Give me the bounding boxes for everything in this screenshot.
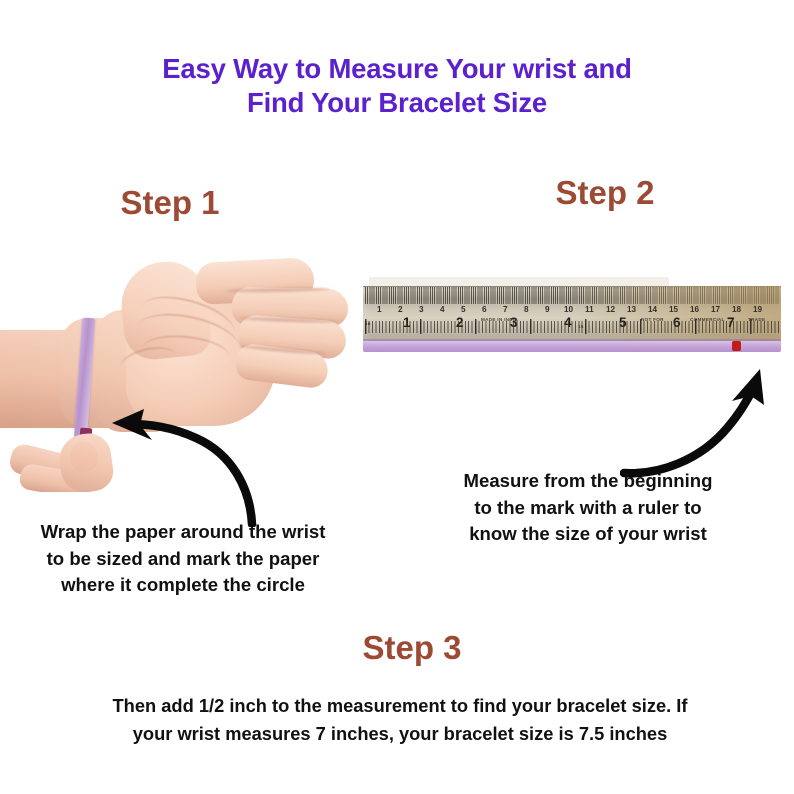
cm-tick-5: 5 (461, 305, 466, 315)
cm-tick-16: 16 (690, 305, 699, 315)
step-2-caption-line-1: Measure from the beginning (418, 468, 758, 495)
cm-tick-15: 15 (669, 305, 678, 315)
cm-tick-12: 12 (606, 305, 615, 315)
cm-tick-18: 18 (732, 305, 741, 315)
step-2-caption-line-2: to the mark with a ruler to (418, 495, 758, 522)
step-2-caption: Measure from the beginning to the mark w… (418, 468, 758, 548)
step-1-caption-line-3: where it complete the circle (8, 572, 358, 599)
step-1-caption-line-1: Wrap the paper around the wrist (8, 519, 358, 546)
page-title: Easy Way to Measure Your wrist and Find … (0, 52, 794, 120)
step-3-caption-line-1: Then add 1/2 inch to the measurement to … (60, 692, 740, 720)
ruler-inch-major-ticks (365, 319, 779, 334)
step-2-caption-line-3: know the size of your wrist (418, 521, 758, 548)
paper-strip-under-ruler (363, 341, 781, 352)
step-3-caption: Then add 1/2 inch to the measurement to … (60, 692, 740, 748)
page-title-line-2: Find Your Bracelet Size (0, 86, 794, 120)
cm-tick-3: 3 (419, 305, 424, 315)
cm-tick-8: 8 (524, 305, 529, 315)
cm-tick-10: 10 (564, 305, 573, 315)
ruler-millimeter-ticks (365, 287, 779, 304)
cm-tick-2: 2 (398, 305, 403, 315)
cm-tick-14: 14 (648, 305, 657, 315)
cm-tick-17: 17 (711, 305, 720, 315)
cm-tick-4: 4 (440, 305, 445, 315)
step-3-caption-line-2: your wrist measures 7 inches, your brace… (60, 720, 740, 748)
cm-tick-13: 13 (627, 305, 636, 315)
step-1-caption-line-2: to be sized and mark the paper (8, 546, 358, 573)
cm-tick-19: 19 (753, 305, 762, 315)
infographic-canvas: Easy Way to Measure Your wrist and Find … (0, 0, 794, 794)
red-measurement-mark (732, 341, 741, 351)
cm-tick-9: 9 (545, 305, 550, 315)
ruler-image: 1 2 3 4 5 6 7 8 9 10 11 12 13 14 15 16 1… (363, 277, 781, 359)
cm-tick-7: 7 (503, 305, 508, 315)
step-2-heading: Step 2 (505, 173, 705, 213)
cm-tick-11: 11 (585, 305, 594, 315)
step-3-heading: Step 3 (312, 628, 512, 668)
page-title-line-1: Easy Way to Measure Your wrist and (0, 52, 794, 86)
step-1-heading: Step 1 (70, 183, 270, 223)
cm-tick-1: 1 (377, 305, 382, 315)
cm-tick-6: 6 (482, 305, 487, 315)
step-1-caption: Wrap the paper around the wrist to be si… (8, 519, 358, 599)
arrow-to-ruler-mark-icon (620, 365, 790, 485)
arrow-to-wrist-mark-icon (100, 392, 260, 527)
